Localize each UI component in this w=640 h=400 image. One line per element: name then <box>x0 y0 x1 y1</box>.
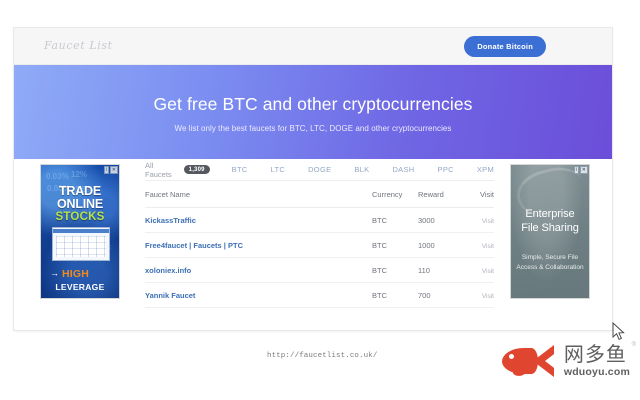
cell-currency: BTC <box>372 258 418 283</box>
tab-doge[interactable]: DOGE <box>308 165 331 174</box>
faucet-link[interactable]: KickassTraffic <box>145 216 196 225</box>
registered-mark: ® <box>632 342 636 348</box>
fish-tail-notch <box>545 351 558 371</box>
visit-link[interactable]: Visit <box>482 243 494 250</box>
tab-btc[interactable]: BTC <box>232 165 248 174</box>
table-row: Free4faucet | Faucets | PTC BTC 1000 Vis… <box>145 233 494 258</box>
ad-left-chart-image <box>52 227 110 261</box>
watermark-domain: wduoyu.com <box>564 366 630 378</box>
fish-fin <box>512 368 525 377</box>
faucet-link[interactable]: Yannik Faucet <box>145 291 195 300</box>
mouse-cursor <box>612 322 626 346</box>
cell-visit: Visit <box>464 233 494 258</box>
ad-right-title: Enterprise File Sharing <box>511 207 589 235</box>
site-logo[interactable]: Faucet List <box>44 39 113 52</box>
ad-info-icon[interactable]: i <box>104 166 109 174</box>
cell-reward: 1000 <box>418 233 464 258</box>
status-bar-url: http://faucetlist.co.uk/ <box>267 352 377 360</box>
faucet-count-badge: 1,309 <box>184 165 210 174</box>
cell-currency: BTC <box>372 208 418 233</box>
faucet-table-head: Faucet Name Currency Reward Visit <box>145 181 494 208</box>
cell-visit: Visit <box>464 258 494 283</box>
ad-right-title-line2: File Sharing <box>511 221 589 235</box>
column-header-visit[interactable]: Visit <box>464 181 494 208</box>
ad-right-subtitle-line1: Simple, Secure File <box>515 253 585 263</box>
cell-currency: BTC <box>372 283 418 308</box>
tab-ltc[interactable]: LTC <box>271 165 286 174</box>
faucet-table-body: KickassTraffic BTC 3000 Visit Free4fauce… <box>145 208 494 308</box>
hero-banner: Get free BTC and other cryptocurrencies … <box>14 65 612 159</box>
arrow-right-icon: → <box>50 268 59 278</box>
browser-page: Faucet List Donate Bitcoin Get free BTC … <box>14 28 612 330</box>
tab-xpm[interactable]: XPM <box>477 165 494 174</box>
ad-banner-right[interactable]: Enterprise File Sharing Simple, Secure F… <box>510 164 590 299</box>
faucet-list-panel: All Faucets 1,309 BTC LTC DOGE BLK DASH … <box>145 159 494 308</box>
ad-close-icon[interactable]: ✕ <box>110 166 118 174</box>
table-row: xoloniex.info BTC 110 Visit <box>145 258 494 283</box>
table-row: Yannik Faucet BTC 700 Visit <box>145 283 494 308</box>
tab-all-faucets[interactable]: All Faucets 1,309 <box>145 161 210 179</box>
column-header-currency[interactable]: Currency <box>372 181 418 208</box>
ad-left-headline: TRADE ONLINE <box>41 185 119 211</box>
ad-left-ghost-text: 12% <box>71 170 87 179</box>
tab-dash[interactable]: DASH <box>392 165 414 174</box>
cell-currency: BTC <box>372 233 418 258</box>
tab-blk[interactable]: BLK <box>354 165 369 174</box>
faucet-link[interactable]: Free4faucet | Faucets | PTC <box>145 241 243 250</box>
table-header-row: Faucet Name Currency Reward Visit <box>145 181 494 208</box>
visit-link[interactable]: Visit <box>482 293 494 300</box>
cell-faucet-name: xoloniex.info <box>145 258 372 283</box>
cell-faucet-name: Yannik Faucet <box>145 283 372 308</box>
hero-subtitle: We list only the best faucets for BTC, L… <box>14 124 612 133</box>
fish-logo-icon <box>502 344 558 378</box>
watermark-chinese-name: 网多鱼 <box>564 344 630 365</box>
watermark-text: 网多鱼 wduoyu.com <box>564 344 630 378</box>
cell-reward: 110 <box>418 258 464 283</box>
chart-plot-area <box>56 236 106 257</box>
screenshot-root: Faucet List Donate Bitcoin Get free BTC … <box>0 0 640 400</box>
donate-bitcoin-button[interactable]: Donate Bitcoin <box>464 36 546 57</box>
currency-filter-tabs: All Faucets 1,309 BTC LTC DOGE BLK DASH … <box>145 159 494 181</box>
ad-right-controls[interactable]: i ✕ <box>574 166 588 174</box>
column-header-faucet-name[interactable]: Faucet Name <box>145 181 372 208</box>
cell-visit: Visit <box>464 208 494 233</box>
tab-ppc[interactable]: PPC <box>438 165 454 174</box>
ad-left-leverage-text: LEVERAGE <box>41 282 119 292</box>
fish-eye <box>509 354 514 359</box>
faucet-table: Faucet Name Currency Reward Visit Kickas… <box>145 181 494 308</box>
cell-reward: 3000 <box>418 208 464 233</box>
cell-visit: Visit <box>464 283 494 308</box>
ad-left-high-text: HIGH <box>62 268 89 280</box>
ad-left-ghost-text: 0.03% <box>46 172 69 181</box>
ad-info-icon[interactable]: i <box>574 166 579 174</box>
ad-left-controls[interactable]: i ✕ <box>104 166 118 174</box>
ad-right-subtitle: Simple, Secure File Access & Collaborati… <box>515 253 585 273</box>
cell-faucet-name: Free4faucet | Faucets | PTC <box>145 233 372 258</box>
site-navbar: Faucet List Donate Bitcoin <box>14 28 612 65</box>
cell-reward: 700 <box>418 283 464 308</box>
cell-faucet-name: KickassTraffic <box>145 208 372 233</box>
hero-headline: Get free BTC and other cryptocurrencies <box>14 94 612 115</box>
watermark: 网多鱼 wduoyu.com <box>502 344 630 378</box>
ad-banner-left[interactable]: 0.03% 12% 0.00% 1.5% 2043 TRADE ONLINE S… <box>40 164 120 299</box>
faucet-link[interactable]: xoloniex.info <box>145 266 191 275</box>
ad-right-title-line1: Enterprise <box>511 207 589 221</box>
main-content: 0.03% 12% 0.00% 1.5% 2043 TRADE ONLINE S… <box>14 159 612 330</box>
ad-right-subtitle-line2: Access & Collaboration <box>515 263 585 273</box>
visit-link[interactable]: Visit <box>482 218 494 225</box>
column-header-reward[interactable]: Reward <box>418 181 464 208</box>
ad-close-icon[interactable]: ✕ <box>580 166 588 174</box>
visit-link[interactable]: Visit <box>482 268 494 275</box>
ad-left-headline-line2: ONLINE <box>41 198 119 211</box>
ad-left-stocks-text: STOCKS <box>41 211 119 223</box>
table-row: KickassTraffic BTC 3000 Visit <box>145 208 494 233</box>
chart-toolbar <box>53 229 109 233</box>
tab-all-faucets-label: All Faucets <box>145 161 179 179</box>
